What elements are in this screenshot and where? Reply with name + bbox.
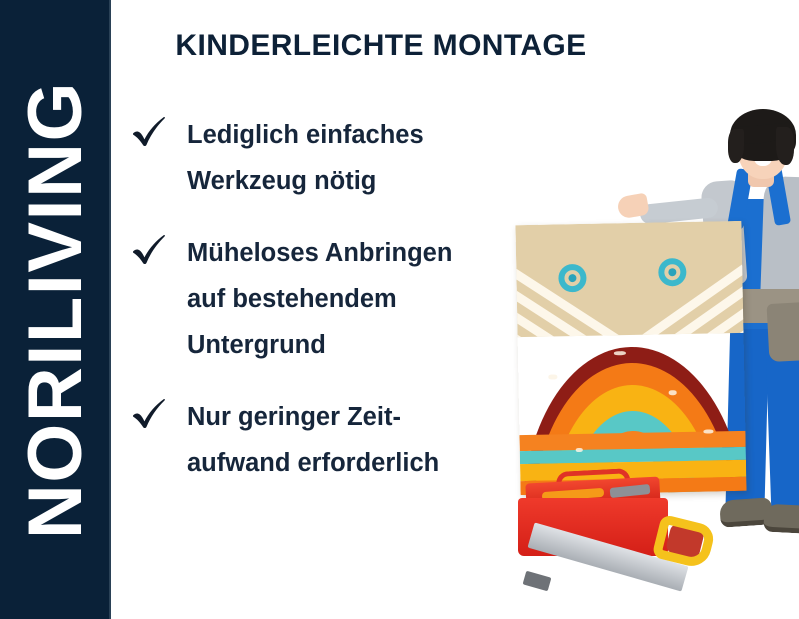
saw-heel <box>523 571 552 592</box>
circle-motif <box>558 264 587 293</box>
brand-sidebar: NORILIVING <box>0 0 111 619</box>
paint-speckle <box>703 429 713 433</box>
product-photo <box>500 0 799 619</box>
hand-saw <box>528 512 718 590</box>
benefits-list: Lediglich einfaches Werkzeug nötig Mühel… <box>125 112 545 512</box>
list-item-line: Nur geringer Zeit- <box>187 394 545 440</box>
brand-name: NORILIVING <box>18 80 94 538</box>
circle-motif <box>658 258 687 287</box>
list-item-line: Lediglich einfaches <box>187 112 545 158</box>
paint-speckle <box>548 374 557 379</box>
check-icon <box>131 234 167 266</box>
decor-panel <box>515 221 746 495</box>
hair-side-right <box>776 127 794 165</box>
paint-speckle <box>576 448 583 452</box>
paint-speckle <box>669 390 677 395</box>
shoe-right <box>763 504 799 535</box>
list-item-line: auf bestehendem <box>187 276 545 322</box>
list-item-line: Müheloses Anbringen <box>187 230 545 276</box>
hair-side-left <box>728 129 744 163</box>
content-area: KINDERLEICHTE MONTAGE Lediglich einfache… <box>111 0 799 619</box>
list-item: Müheloses Anbringen auf bestehendem Unte… <box>125 230 545 368</box>
list-item: Nur geringer Zeit- aufwand erforderlich <box>125 394 545 486</box>
check-icon <box>131 398 167 430</box>
tool-pouch <box>767 302 799 362</box>
list-item-line: aufwand erforderlich <box>187 440 545 486</box>
poster-canvas: NORILIVING KINDERLEICHTE MONTAGE Ledigli… <box>0 0 799 619</box>
paint-speckle <box>614 351 626 355</box>
check-icon <box>131 116 167 148</box>
list-item: Lediglich einfaches Werkzeug nötig <box>125 112 545 204</box>
list-item-line: Werkzeug nötig <box>187 158 545 204</box>
list-item-line: Untergrund <box>187 322 545 368</box>
